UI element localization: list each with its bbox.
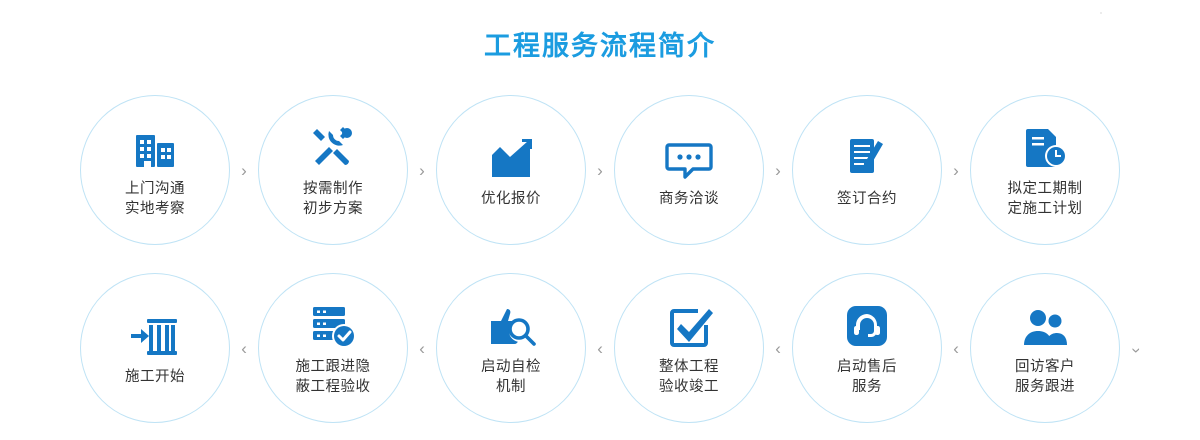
flow-row-1: 上门沟通 实地考察 › 按需制作 初步方案 › [0, 90, 1200, 250]
flow-arrow: › [942, 340, 970, 357]
flow-node-draft-plan[interactable]: 按需制作 初步方案 [258, 95, 408, 245]
flow-node-construction-start[interactable]: 施工开始 [80, 273, 230, 423]
flow-arrow: › [230, 340, 258, 357]
flow-arrow: › [764, 340, 792, 357]
flow-arrow: › [230, 162, 258, 179]
calendar-start-icon [129, 309, 181, 361]
flow-arrow: › [586, 340, 614, 357]
chart-down-icon [486, 131, 536, 183]
flow-node-label: 签订合约 [837, 189, 897, 209]
flow-node-construction-followup[interactable]: 施工跟进隐 蔽工程验收 [258, 273, 408, 423]
flow-node-label: 上门沟通 实地考察 [125, 179, 185, 219]
flow-node-label: 回访客户 服务跟进 [1015, 357, 1075, 397]
flow-node-label: 按需制作 初步方案 [303, 179, 363, 219]
flow-node-label: 施工跟进隐 蔽工程验收 [296, 357, 371, 397]
flow-arrow: › [942, 162, 970, 179]
server-check-icon [307, 299, 359, 351]
flow-arrow: › [764, 162, 792, 179]
flow-row-2: 回访客户 服务跟进 › 启动售后 服务 › [0, 268, 1200, 428]
flow-arrow-down: › [1129, 348, 1146, 354]
flow-arrow: › [408, 340, 436, 357]
flow-arrow: › [408, 162, 436, 179]
flow-node-project-acceptance[interactable]: 整体工程 验收竣工 [614, 273, 764, 423]
flow-node-label: 启动自检 机制 [481, 357, 541, 397]
flow-node-label: 整体工程 验收竣工 [659, 357, 719, 397]
building-icon [130, 121, 180, 173]
document-clock-icon [1020, 121, 1070, 173]
checkbox-icon [664, 299, 714, 351]
flow-arrow: › [586, 162, 614, 179]
page-title: 工程服务流程简介 [0, 24, 1200, 63]
process-flow-diagram: 上门沟通 实地考察 › 按需制作 初步方案 › [0, 90, 1200, 428]
tools-icon [307, 121, 359, 173]
flow-node-followup-visit[interactable]: 回访客户 服务跟进 [970, 273, 1120, 423]
flow-node-schedule-plan[interactable]: 拟定工期制 定施工计划 [970, 95, 1120, 245]
headset-icon [842, 299, 892, 351]
flow-node-optimize-quote[interactable]: 优化报价 [436, 95, 586, 245]
flow-node-business-talk[interactable]: 商务洽谈 [614, 95, 764, 245]
flow-node-label: 商务洽谈 [659, 189, 719, 209]
chat-bubble-icon [663, 131, 715, 183]
inspect-search-icon [485, 299, 537, 351]
users-icon [1019, 299, 1071, 351]
flow-node-after-sales[interactable]: 启动售后 服务 [792, 273, 942, 423]
contract-pen-icon [842, 131, 892, 183]
flow-node-self-inspection[interactable]: 启动自检 机制 [436, 273, 586, 423]
flow-node-label: 施工开始 [125, 367, 185, 387]
flow-node-label: 启动售后 服务 [837, 357, 897, 397]
flow-node-sign-contract[interactable]: 签订合约 [792, 95, 942, 245]
flow-node-onsite-survey[interactable]: 上门沟通 实地考察 [80, 95, 230, 245]
flow-node-label: 拟定工期制 定施工计划 [1008, 179, 1083, 219]
decorative-speck [1100, 12, 1102, 14]
flow-node-label: 优化报价 [481, 189, 541, 209]
